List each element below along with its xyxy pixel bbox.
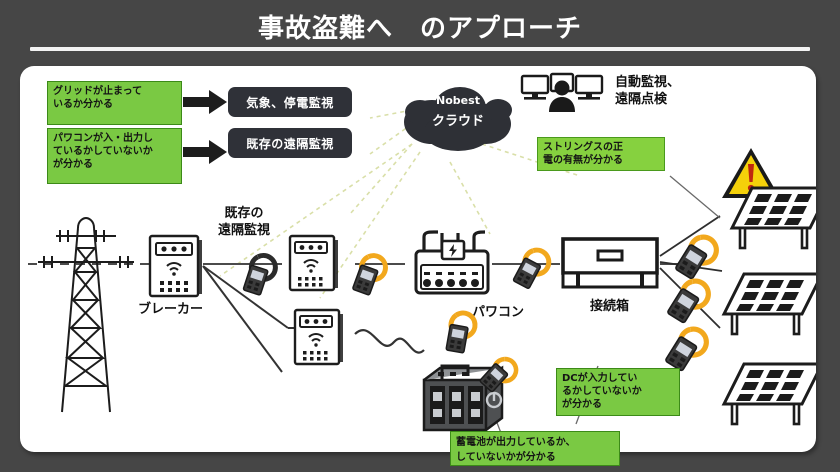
label-existing-remote-monitor: 既存の 遠隔監視	[218, 205, 270, 239]
title-underline	[30, 47, 810, 51]
callout-strings: ストリングスの正 電の有無が分かる	[537, 137, 665, 171]
callout-pcs-io: パワコンが入・出力し ているかしていないか が分かる	[47, 128, 182, 184]
video-monitoring-icon	[520, 72, 604, 114]
power-conditioner-icon	[408, 221, 502, 299]
clamp-meter-icon	[334, 234, 406, 306]
dark-box-existing-remote[interactable]: 既存の遠隔監視	[228, 128, 352, 158]
label-junction-box: 接続箱	[590, 298, 629, 315]
transmission-tower-icon	[38, 214, 134, 414]
squiggle-wire	[355, 330, 424, 352]
wifi-device-icon	[288, 234, 340, 292]
slide-root: 事故盗難へ のアプローチ	[0, 0, 840, 472]
clamp-meter-icon	[428, 296, 493, 361]
label-breaker: ブレーカー	[138, 301, 203, 318]
clamp-meter-icon	[225, 235, 296, 306]
cloud-label-line2: クラウド	[406, 110, 510, 129]
wifi-device-icon	[293, 308, 345, 366]
breaker-device-icon	[148, 234, 204, 298]
solar-panel-icon	[710, 352, 816, 428]
solar-panel-icon	[710, 262, 816, 338]
callout-grid-stop: グリッドが止まって いるか分かる	[47, 81, 182, 125]
junction-box-icon	[560, 236, 660, 294]
callout-dc-input: DCが入力してい るかしていないか が分かる	[556, 368, 680, 416]
solar-panel-icon	[718, 176, 816, 252]
arrow-grid-to-weather	[183, 88, 229, 118]
arrow-pcs-to-remote	[183, 138, 229, 168]
cloud-label-line1: Nobest	[406, 94, 510, 107]
dark-box-weather-outage[interactable]: 気象、停電監視	[228, 87, 352, 117]
diagram-panel: グリッドが止まって いるか分かる パワコンが入・出力し ているかしていないか が…	[20, 66, 816, 452]
page-title: 事故盗難へ のアプローチ	[0, 8, 840, 45]
label-auto-monitor: 自動監視、 遠隔点検	[615, 74, 680, 108]
callout-battery-output: 蓄電池が出力しているか、 していないかが分かる	[450, 431, 620, 466]
